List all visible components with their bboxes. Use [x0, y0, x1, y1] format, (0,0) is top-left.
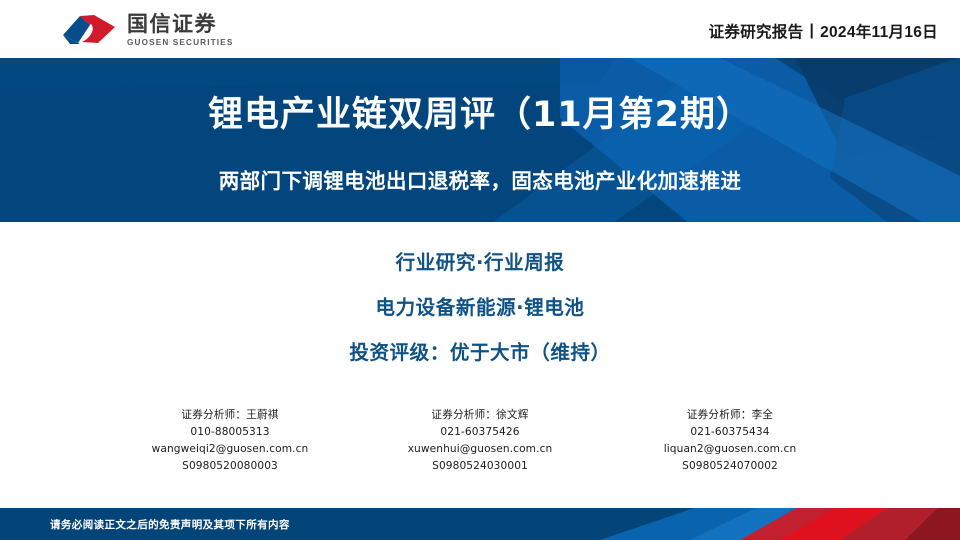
research-category: 行业研究·行业周报: [396, 246, 565, 275]
analyst-license-code: S0980524030001: [355, 458, 605, 475]
brand-name-cn: 国信证券: [127, 13, 233, 35]
analyst-license-code: S0980520080003: [105, 458, 355, 475]
analyst-name: 证券分析师：徐文辉: [355, 407, 605, 424]
brand-logo: 国信证券 GUOSEN SECURITIES: [60, 13, 233, 47]
title-banner: 锂电产业链双周评（11月第2期） 两部门下调锂电池出口退税率，固态电池产业化加速…: [0, 58, 960, 222]
header-report-meta: 证券研究报告 | 2024年11月16日: [709, 20, 938, 42]
analyst-phone: 021-60375426: [355, 424, 605, 441]
banner-text-block: 锂电产业链双周评（11月第2期） 两部门下调锂电池出口退税率，固态电池产业化加速…: [0, 58, 960, 222]
industry-sector: 电力设备新能源·锂电池: [375, 291, 584, 320]
analyst-card: 证券分析师：王蔚祺 010-88005313 wangweiqi2@guosen…: [105, 407, 355, 476]
report-classification: 行业研究·行业周报 电力设备新能源·锂电池 投资评级：优于大市（维持）: [349, 246, 610, 365]
report-cover-page: 国信证券 GUOSEN SECURITIES 证券研究报告 | 2024年11月…: [0, 0, 960, 540]
report-date: 2024年11月16日: [820, 20, 938, 42]
report-title: 锂电产业链双周评（11月第2期）: [208, 94, 752, 138]
investment-rating: 投资评级：优于大市（维持）: [349, 336, 610, 365]
analyst-license-code: S0980524070002: [605, 458, 855, 475]
cover-body: 行业研究·行业周报 电力设备新能源·锂电池 投资评级：优于大市（维持） 证券分析…: [0, 222, 960, 508]
analyst-email[interactable]: liquan2@guosen.com.cn: [605, 441, 855, 458]
brand-name-en: GUOSEN SECURITIES: [127, 38, 233, 47]
analyst-phone: 010-88005313: [105, 424, 355, 441]
analyst-name: 证券分析师：李全: [605, 407, 855, 424]
analyst-email[interactable]: xuwenhui@guosen.com.cn: [355, 441, 605, 458]
guosen-logo-icon: [60, 13, 118, 47]
footer-disclaimer: 请务必阅读正文之后的免责声明及其项下所有内容: [50, 508, 290, 540]
header-separator: |: [809, 22, 814, 40]
analyst-card: 证券分析师：李全 021-60375434 liquan2@guosen.com…: [605, 407, 855, 476]
analyst-list: 证券分析师：王蔚祺 010-88005313 wangweiqi2@guosen…: [70, 407, 890, 476]
analyst-card: 证券分析师：徐文辉 021-60375426 xuwenhui@guosen.c…: [355, 407, 605, 476]
analyst-name: 证券分析师：王蔚祺: [105, 407, 355, 424]
brand-wordmark: 国信证券 GUOSEN SECURITIES: [127, 13, 233, 46]
page-footer: 请务必阅读正文之后的免责声明及其项下所有内容: [0, 508, 960, 540]
analyst-email[interactable]: wangweiqi2@guosen.com.cn: [105, 441, 355, 458]
analyst-phone: 021-60375434: [605, 424, 855, 441]
page-header: 国信证券 GUOSEN SECURITIES 证券研究报告 | 2024年11月…: [0, 0, 960, 58]
report-type-label: 证券研究报告: [709, 20, 804, 42]
report-subtitle: 两部门下调锂电池出口退税率，固态电池产业化加速推进: [219, 164, 742, 194]
